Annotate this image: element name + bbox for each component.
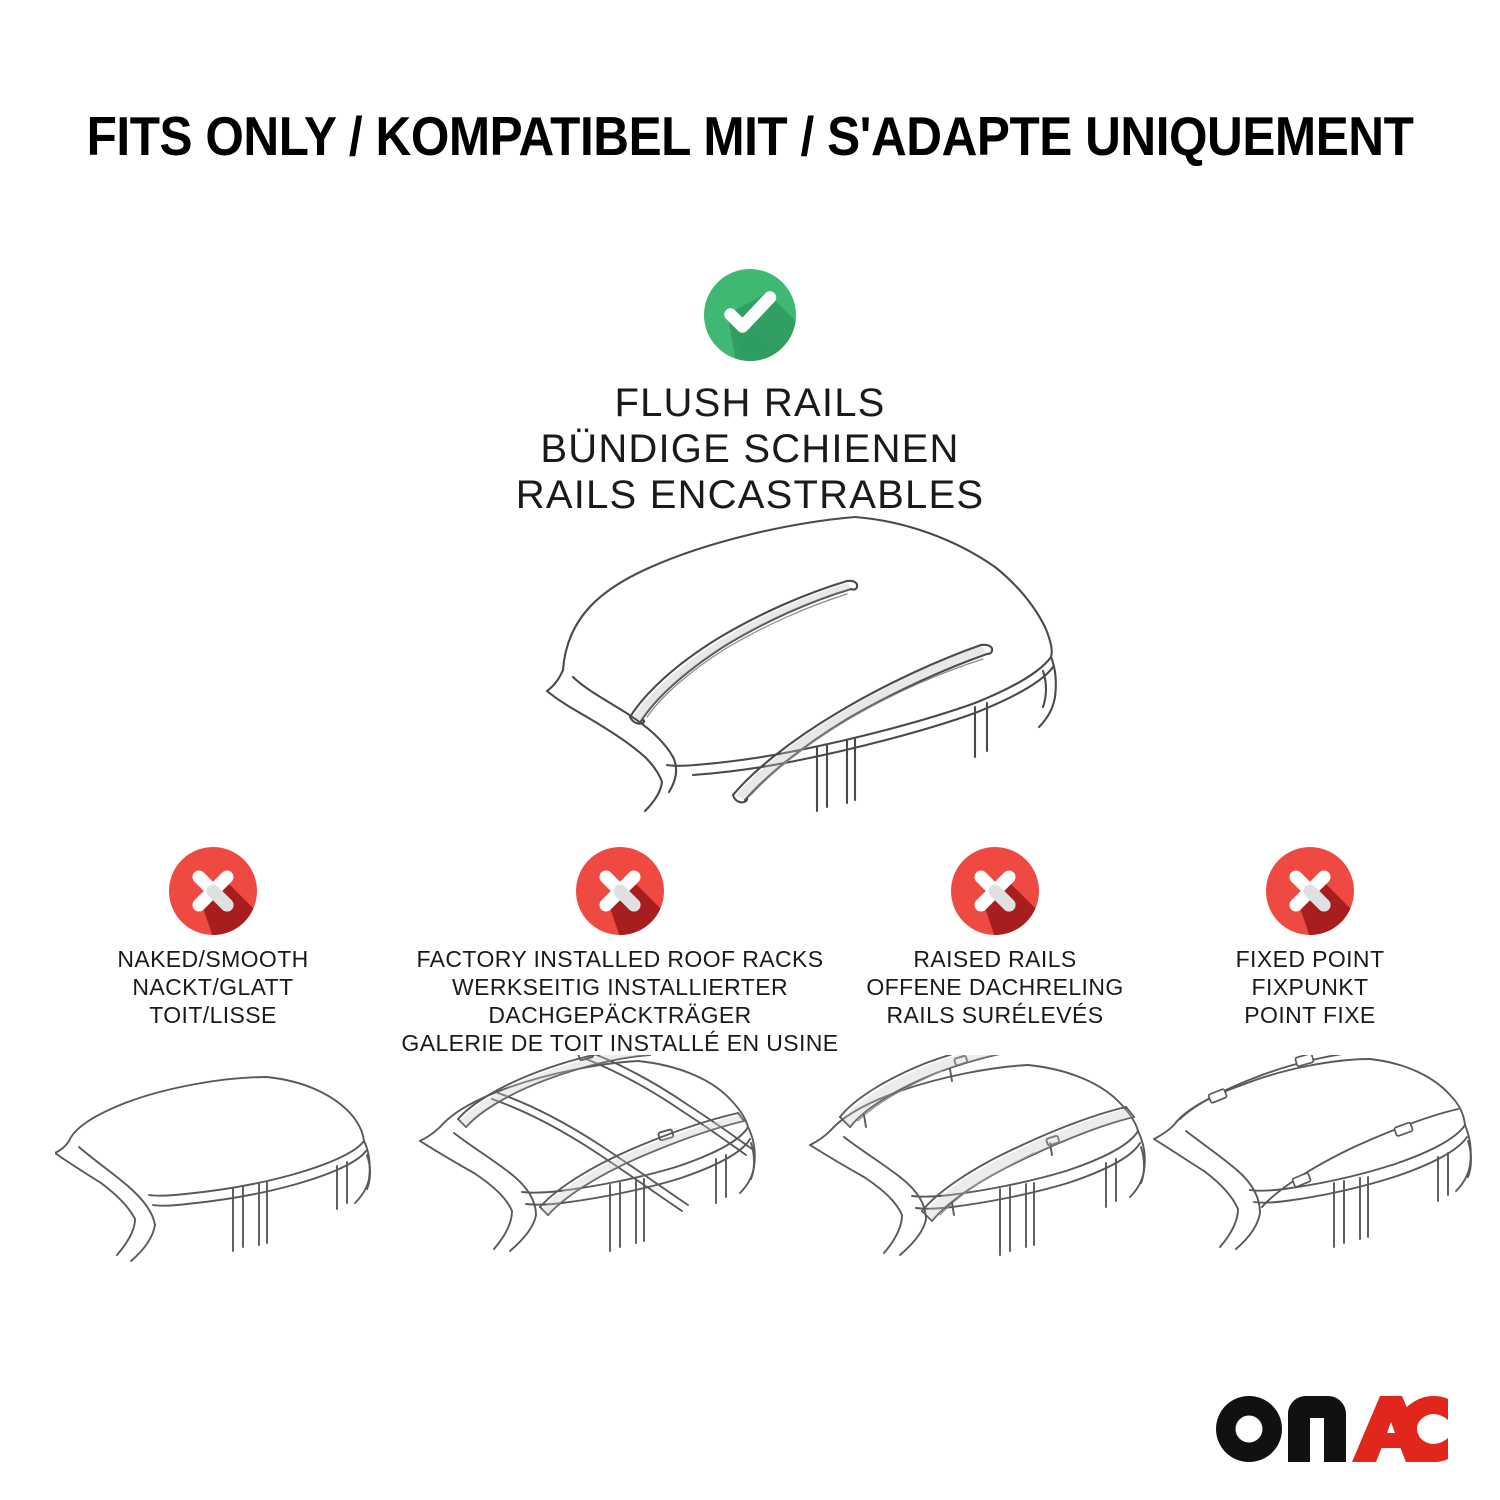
incompatible-label-en: NAKED/SMOOTH <box>43 945 383 973</box>
check-circle-icon <box>697 262 803 368</box>
x-circle-icon <box>167 845 259 937</box>
omac-logo-letter-m <box>1288 1396 1346 1462</box>
x-circle-icon <box>574 845 666 937</box>
incompatible-options-row: NAKED/SMOOTH NACKT/GLATT TOIT/LISSE FACT… <box>0 845 1500 1075</box>
incompatible-label-fr: GALERIE DE TOIT INSTALLÉ EN USINE <box>390 1029 850 1057</box>
incompatible-label-de: FIXPUNKT <box>1160 973 1460 1001</box>
car-roof-factory-racks-illustration <box>410 1055 790 1320</box>
incompatible-label-de-1: WERKSEITIG INSTALLIERTER <box>390 973 850 1001</box>
incompatible-label-fr: TOIT/LISSE <box>43 1001 383 1029</box>
car-roof-fixed-point-illustration <box>1150 1055 1500 1320</box>
compatible-section: FLUSH RAILS BÜNDIGE SCHIENEN RAILS ENCAS… <box>0 262 1500 518</box>
incompatible-label-de-2: DACHGEPÄCKTRÄGER <box>390 1001 850 1029</box>
omac-logo-mark <box>1216 1396 1448 1462</box>
infographic-page: FITS ONLY / KOMPATIBEL MIT / S'ADAPTE UN… <box>0 0 1500 1500</box>
incompatible-label-en: FIXED POINT <box>1160 945 1460 973</box>
incompatible-label-de: OFFENE DACHRELING <box>845 973 1145 1001</box>
car-roof-flush-rails-illustration <box>455 495 1075 815</box>
incompatible-item-factory-racks: FACTORY INSTALLED ROOF RACKS WERKSEITIG … <box>390 845 850 1057</box>
omac-logo <box>1216 1396 1448 1462</box>
incompatible-label-fr: RAILS SURÉLEVÉS <box>845 1001 1145 1029</box>
x-circle-icon <box>1264 845 1356 937</box>
incompatible-item-raised-rails: RAISED RAILS OFFENE DACHRELING RAILS SUR… <box>845 845 1145 1029</box>
x-circle-icon <box>949 845 1041 937</box>
compatible-label-en: FLUSH RAILS <box>0 380 1500 426</box>
incompatible-label-de: NACKT/GLATT <box>43 973 383 1001</box>
incompatible-item-naked-smooth: NAKED/SMOOTH NACKT/GLATT TOIT/LISSE <box>43 845 383 1029</box>
page-title: FITS ONLY / KOMPATIBEL MIT / S'ADAPTE UN… <box>75 104 1425 168</box>
incompatible-label-fr: POINT FIXE <box>1160 1001 1460 1029</box>
incompatible-label-en: FACTORY INSTALLED ROOF RACKS <box>390 945 850 973</box>
omac-logo-letter-o <box>1216 1396 1282 1462</box>
incompatible-illustrations-row <box>0 1055 1500 1325</box>
car-roof-naked-illustration <box>55 1055 405 1320</box>
incompatible-item-fixed-point: FIXED POINT FIXPUNKT POINT FIXE <box>1160 845 1460 1029</box>
incompatible-label-en: RAISED RAILS <box>845 945 1145 973</box>
compatible-label-de: BÜNDIGE SCHIENEN <box>0 426 1500 472</box>
car-roof-raised-rails-illustration <box>800 1055 1180 1320</box>
